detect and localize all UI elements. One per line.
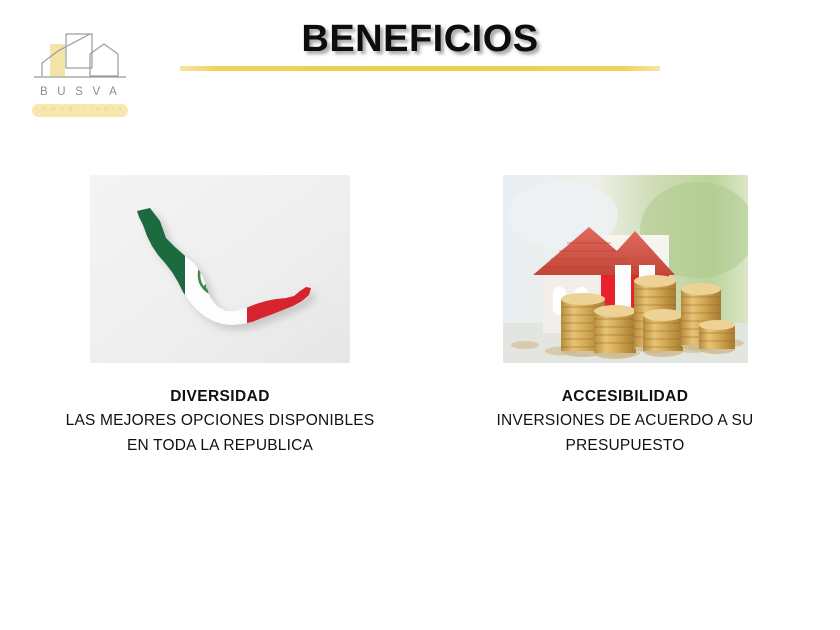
benefit-caption-diversidad: DIVERSIDAD LAS MEJORES OPCIONES DISPONIB… — [20, 385, 420, 458]
benefit-title: DIVERSIDAD — [20, 385, 420, 408]
title-divider — [180, 66, 660, 71]
benefit-column-accesibilidad: ACCESIBILIDAD INVERSIONES DE ACUERDO A S… — [430, 175, 820, 458]
benefit-body-line-2: PRESUPUESTO — [430, 433, 820, 458]
slide-canvas: B U S V A I N M O B I L I A R I A BENEFI… — [0, 0, 840, 630]
house-and-coins-photo — [503, 175, 748, 363]
page-title: BENEFICIOS — [0, 18, 840, 61]
benefit-title: ACCESIBILIDAD — [430, 385, 820, 408]
benefit-caption-accesibilidad: ACCESIBILIDAD INVERSIONES DE ACUERDO A S… — [430, 385, 820, 458]
logo-subtitle-band: I N M O B I L I A R I A — [32, 104, 128, 117]
benefit-body-line-1: LAS MEJORES OPCIONES DISPONIBLES — [20, 408, 420, 433]
benefit-column-diversidad: DIVERSIDAD LAS MEJORES OPCIONES DISPONIB… — [20, 175, 420, 458]
benefit-body-line-2: EN TODA LA REPUBLICA — [20, 433, 420, 458]
logo-subtitle: I N M O B I L I A R I A — [32, 104, 128, 117]
benefit-body-line-1: INVERSIONES DE ACUERDO A SU — [430, 408, 820, 433]
mexico-flag-map-photo — [90, 175, 350, 363]
logo-wordmark: B U S V A — [28, 86, 132, 98]
